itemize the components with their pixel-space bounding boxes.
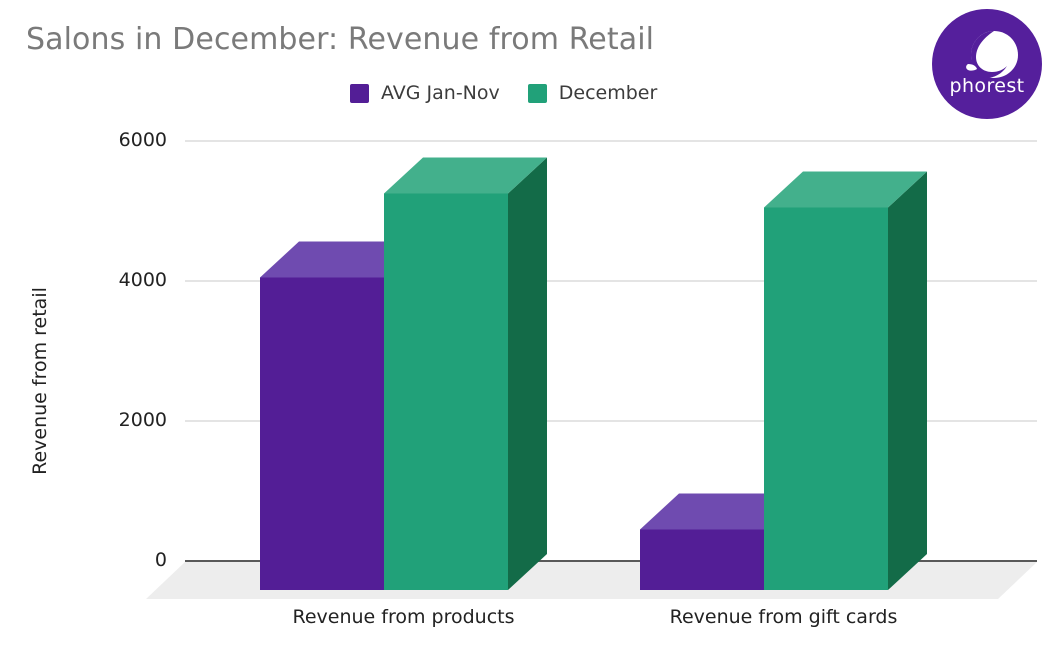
- x-tick-label-1: Revenue from gift cards: [584, 606, 984, 628]
- bar-front-face: [384, 194, 508, 591]
- bar-side-face: [888, 172, 927, 591]
- y-axis-label: Revenue from retail: [29, 261, 51, 501]
- bar-3d-1-1[interactable]: [764, 172, 927, 591]
- y-tick-label: 2000: [119, 409, 167, 431]
- bar-side-face: [508, 158, 547, 591]
- bar-3d-0-1[interactable]: [384, 158, 547, 591]
- y-tick-label: 6000: [119, 129, 167, 151]
- y-tick-label: 4000: [119, 269, 167, 291]
- chart-plot-area: 0200040006000 Revenue from productsReven…: [0, 0, 1061, 659]
- bar-front-face: [640, 530, 764, 591]
- bar-front-face: [260, 278, 384, 591]
- x-tick-label-0: Revenue from products: [204, 606, 604, 628]
- y-tick-label: 0: [155, 549, 167, 571]
- bar-front-face: [764, 208, 888, 591]
